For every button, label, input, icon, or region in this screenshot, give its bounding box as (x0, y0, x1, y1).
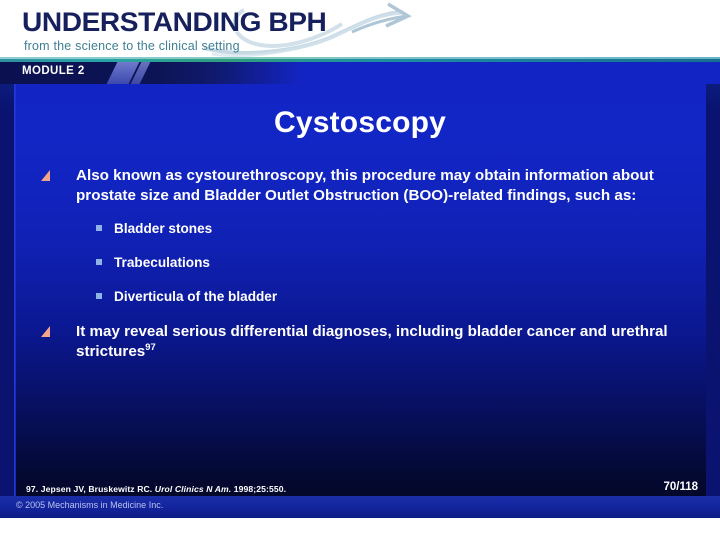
bullet-level1-text: It may reveal serious differential diagn… (76, 323, 668, 360)
brand-logo: UNDERSTANDING BPH from the science to th… (22, 4, 422, 56)
page-number: 70/118 (663, 481, 698, 493)
bullet-level1-secondary: It may reveal serious differential diagn… (38, 322, 688, 362)
reference-superscript: 97 (145, 341, 155, 352)
list-item: Diverticula of the bladder (38, 288, 688, 306)
sub-bullet-text: Trabeculations (114, 255, 210, 270)
list-item: Bladder stones (38, 220, 688, 238)
square-marker-icon (96, 259, 102, 265)
bullet-level1-primary: Also known as cystourethroscopy, this pr… (38, 166, 688, 206)
slide-content: Also known as cystourethroscopy, this pr… (38, 166, 688, 376)
sub-bullet-text: Bladder stones (114, 221, 212, 236)
bullet-level1-text: Also known as cystourethroscopy, this pr… (76, 167, 654, 204)
citation-authors: 97. Jepsen JV, Bruskewitz RC. (26, 484, 152, 494)
logo-tagline: from the science to the clinical setting (24, 39, 240, 53)
bottom-margin (0, 518, 720, 540)
citation-journal: Urol Clinics N Am. (155, 484, 231, 494)
slide-root: UNDERSTANDING BPH from the science to th… (0, 0, 720, 540)
square-marker-icon (96, 293, 102, 299)
slide-body: MODULE 2 Cystoscopy Also known as cystou… (0, 62, 720, 517)
citation-details: 1998;25:550. (234, 484, 286, 494)
copyright-text: © 2005 Mechanisms in Medicine Inc. (16, 500, 163, 510)
square-marker-icon (96, 225, 102, 231)
copyright-banner: © 2005 Mechanisms in Medicine Inc. (0, 496, 720, 518)
triangle-marker-icon (41, 170, 50, 181)
header-banner: UNDERSTANDING BPH from the science to th… (0, 0, 720, 57)
triangle-marker-icon (41, 326, 50, 337)
module-label: MODULE 2 (22, 65, 85, 77)
sub-bullet-list: Bladder stones Trabeculations Diverticul… (38, 220, 688, 306)
list-item: Trabeculations (38, 254, 688, 272)
header-divider-highlight (0, 57, 720, 59)
logo-title: UNDERSTANDING BPH (22, 7, 326, 38)
module-banner: MODULE 2 (0, 62, 720, 84)
citation-line: 97. Jepsen JV, Bruskewitz RC. Urol Clini… (26, 484, 286, 494)
page-title: Cystoscopy (0, 106, 720, 140)
sub-bullet-text: Diverticula of the bladder (114, 289, 277, 304)
